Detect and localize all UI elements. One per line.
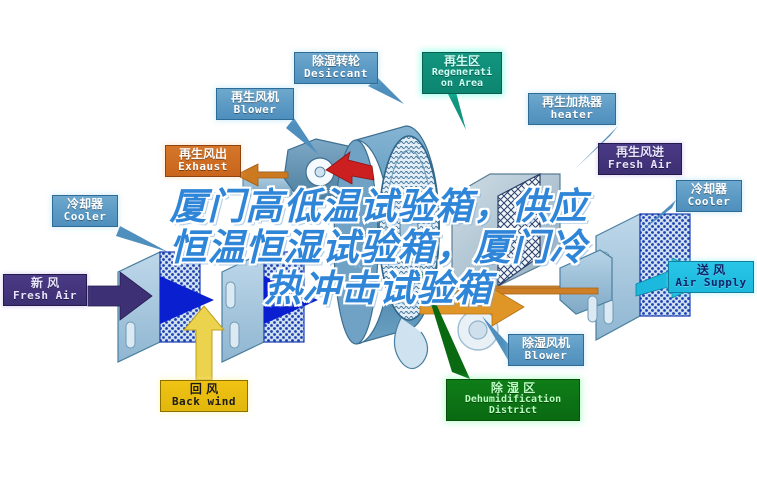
process-air-arrow-shape xyxy=(160,276,318,324)
label-exhaust-en: Exhaust xyxy=(171,161,235,173)
back-wind-arrow-shape xyxy=(184,306,224,380)
blower-out-arrow-shape xyxy=(420,288,524,326)
label-dehumidification-blower: 除湿风机 Blower xyxy=(508,334,584,366)
label-dehumidification-district-en-2: District xyxy=(452,406,574,417)
exhaust-arrow-shape xyxy=(236,164,288,186)
label-dehumidification-district: 除 湿 区 Dehumidification District xyxy=(446,379,580,421)
label-fresh-air-inlet-cn: 新 风 xyxy=(9,277,81,290)
label-cooler-left: 冷却器 Cooler xyxy=(52,195,118,227)
label-exhaust-cn: 再生风出 xyxy=(171,148,235,161)
dehumidifier-schematic-image: XTY xyxy=(0,0,757,488)
label-regeneration-area: 再生区 Regenerati on Area xyxy=(422,52,502,94)
watermark-title-line-2: 恒温恒湿试验箱，厦门冷 xyxy=(0,227,757,268)
label-air-supply: 送 风 Air Supply xyxy=(668,261,754,293)
regen-hot-arrow-shape xyxy=(326,152,374,184)
label-fresh-air-inlet-en: Fresh Air xyxy=(9,290,81,302)
label-desiccant-wheel-en: Desiccant xyxy=(300,68,372,80)
label-cooler-right-en: Cooler xyxy=(682,196,736,208)
fresh-air-arrow-shape xyxy=(88,272,152,320)
label-regeneration-heater-cn: 再生加热器 xyxy=(534,96,610,109)
label-dehumidification-blower-cn: 除湿风机 xyxy=(514,337,578,350)
label-back-wind: 回 风 Back wind xyxy=(160,380,248,412)
label-back-wind-en: Back wind xyxy=(166,396,242,408)
label-fresh-air-inlet: 新 风 Fresh Air xyxy=(3,274,87,306)
dehum-district-leader xyxy=(420,268,470,379)
label-regeneration-fresh-air: 再生风进 Fresh Air xyxy=(598,143,682,175)
label-regeneration-heater-en: heater xyxy=(534,109,610,121)
label-regeneration-heater: 再生加热器 heater xyxy=(528,93,616,125)
label-regeneration-blower-cn: 再生风机 xyxy=(222,91,288,104)
label-regeneration-area-en-2: on Area xyxy=(428,79,496,90)
regen-inlet-arrow-shape xyxy=(434,280,598,302)
label-exhaust: 再生风出 Exhaust xyxy=(165,145,241,177)
svg-text:XTY: XTY xyxy=(354,258,375,271)
machine-illustration: XTY xyxy=(0,0,757,488)
label-cooler-left-en: Cooler xyxy=(58,211,112,223)
label-air-supply-en: Air Supply xyxy=(674,277,748,289)
regen-area-leader xyxy=(448,92,466,130)
label-dehumidification-district-cn: 除 湿 区 xyxy=(452,382,574,395)
label-regeneration-fresh-air-cn: 再生风进 xyxy=(604,146,676,159)
label-dehumidification-blower-en: Blower xyxy=(514,350,578,362)
label-regeneration-blower: 再生风机 Blower xyxy=(216,88,294,120)
label-back-wind-cn: 回 风 xyxy=(166,383,242,396)
label-air-supply-cn: 送 风 xyxy=(674,264,748,277)
label-cooler-left-cn: 冷却器 xyxy=(58,198,112,211)
label-desiccant-wheel: 除湿转轮 Desiccant xyxy=(294,52,378,84)
label-cooler-right: 冷却器 Cooler xyxy=(676,180,742,212)
label-regeneration-area-cn: 再生区 xyxy=(428,55,496,68)
label-regeneration-fresh-air-en: Fresh Air xyxy=(604,159,676,171)
watermark-title-line-3: 热冲击试验箱 xyxy=(0,268,757,309)
label-cooler-right-cn: 冷却器 xyxy=(682,183,736,196)
label-regeneration-blower-en: Blower xyxy=(222,104,288,116)
label-desiccant-wheel-cn: 除湿转轮 xyxy=(300,55,372,68)
